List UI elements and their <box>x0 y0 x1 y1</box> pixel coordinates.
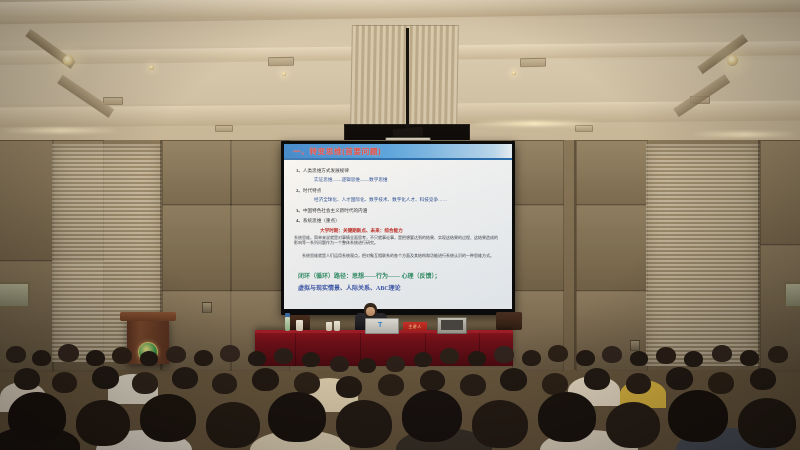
ceiling <box>0 0 800 142</box>
audience-head <box>112 347 132 364</box>
cove-light <box>0 128 120 133</box>
audience-head <box>440 348 459 364</box>
ceiling-vent <box>268 57 294 66</box>
presenter-face <box>366 307 375 316</box>
audience-head <box>386 356 405 372</box>
projection-screen: 一、转变思维(首要问题) 1、人类思维方式发展规律 实证思维——逻辑思维——数学… <box>284 144 512 309</box>
ceiling-vent <box>215 125 233 132</box>
audience-head <box>140 351 158 366</box>
audience-head <box>656 347 676 364</box>
audience-head <box>378 374 404 396</box>
audience-head <box>274 348 293 364</box>
ceiling-grille <box>350 25 459 127</box>
audience-head <box>472 400 528 448</box>
spotlight <box>727 55 738 66</box>
slide-line-5-text: 中国特色社会主义新时代的内涵 <box>303 208 367 213</box>
slide-highlight-line: 大学时期：关键期新点、未来：综合能力 <box>320 228 403 233</box>
slide-line-3: 2、时代特点 <box>296 188 321 193</box>
presenter-head <box>364 303 377 317</box>
audience-head <box>494 346 514 363</box>
audience-head <box>576 350 595 366</box>
lecture-hall-photo: 一、转变思维(首要问题) 1、人类思维方式发展规律 实证思维——逻辑思维——数学… <box>0 0 800 450</box>
audience-head <box>212 373 237 394</box>
presentation-slide: 一、转变思维(首要问题) 1、人类思维方式发展规律 实证思维——逻辑思维——数学… <box>284 144 512 309</box>
stage-chair <box>496 312 522 330</box>
slide-title-bar: 一、转变思维(首要问题) <box>284 144 512 158</box>
slide-line-5-number: 3、 <box>296 208 303 213</box>
ceiling-vent <box>575 125 593 132</box>
slide-bottom-line-1: 闭环（循环）路径：思想——行为—— 心理（反馈）； <box>298 275 441 280</box>
slide-bottom-line-2: 虚拟与现实情景、人际关系、ABC理论 <box>298 287 401 292</box>
audience-head <box>220 345 240 362</box>
audience-head <box>684 351 703 367</box>
audience-head <box>8 392 66 442</box>
audience-head <box>708 372 734 394</box>
wall-window <box>0 282 30 308</box>
audience-head <box>602 346 622 363</box>
wall-panel <box>512 140 564 206</box>
audience-head <box>140 394 196 442</box>
slide-line-3-text: 时代特点 <box>303 188 321 193</box>
audience-head <box>630 351 648 366</box>
slide-line-6: 4、系统思维（重点） <box>296 218 340 223</box>
audience-head <box>76 400 130 446</box>
slide-paragraph-2: 系统思维就是人们运用系统观点，把对象互相联系的各个方面及其结构和功能进行系统认识… <box>294 254 500 259</box>
audience-head <box>460 374 486 396</box>
audience-head <box>548 345 568 362</box>
audience-head <box>666 367 693 390</box>
audience-head <box>302 352 320 367</box>
wall-panel <box>576 140 648 206</box>
cove-light <box>690 132 800 137</box>
monitor-screen <box>441 320 463 330</box>
projection-screen-frame: 一、转变思维(首要问题) 1、人类思维方式发展规律 实证思维——逻辑思维——数学… <box>281 141 515 315</box>
audience-head <box>6 346 26 363</box>
audience-head <box>194 350 213 366</box>
slide-line-2: 实证思维——逻辑思维——数学思维 <box>314 177 388 182</box>
ceiling-vent <box>520 58 546 67</box>
audience-head <box>750 368 776 390</box>
slide-line-5: 3、中国特色社会主义新时代的内涵 <box>296 208 367 213</box>
wall-panel <box>162 204 232 292</box>
audience-head <box>738 398 796 448</box>
slide-line-1: 1、人类思维方式发展规律 <box>296 168 349 173</box>
slide-paragraph-1: 系统思维，简单来说就是对事情全面思考，不只就事论事，是把想要达到的结果、实现这结… <box>294 236 500 245</box>
audience-head <box>248 351 266 366</box>
audience-head <box>668 390 728 442</box>
slide-line-3-number: 2、 <box>296 188 303 193</box>
audience-head <box>606 402 660 448</box>
wall-panel <box>576 204 648 292</box>
downlight <box>282 72 286 76</box>
audience-head <box>402 390 462 442</box>
audience-head <box>522 350 541 366</box>
audience <box>0 330 800 450</box>
audience-head <box>32 350 51 366</box>
audience-head <box>468 351 486 366</box>
audience-head <box>740 350 759 366</box>
podium-top <box>120 312 176 321</box>
audience-head <box>294 372 320 394</box>
downlight <box>512 71 516 75</box>
audience-head <box>268 392 326 442</box>
audience-head <box>92 366 119 389</box>
audience-head <box>336 376 362 398</box>
audience-head <box>414 352 432 367</box>
audience-head <box>330 356 349 372</box>
audience-head <box>538 392 596 442</box>
audience-head <box>58 344 79 362</box>
laptop-logo: T <box>378 322 382 329</box>
wall-window <box>784 282 800 308</box>
audience-head <box>52 372 77 393</box>
audience-head <box>712 345 732 362</box>
wall-panel <box>760 140 800 246</box>
slide-title: 一、转变思维(首要问题) <box>284 146 381 157</box>
audience-head <box>14 368 40 390</box>
audience-head <box>166 346 186 363</box>
audience-head <box>206 402 260 448</box>
audience-head <box>626 373 651 394</box>
water-bottle <box>285 317 290 331</box>
audience-head <box>172 367 198 389</box>
downlight <box>149 65 154 70</box>
wall-panel <box>0 140 54 262</box>
bottle-cap <box>285 313 290 317</box>
audience-head <box>358 358 376 373</box>
audience-head <box>768 346 788 363</box>
audience-head <box>252 368 279 391</box>
audience-head <box>132 372 158 394</box>
spotlight <box>63 55 74 66</box>
slide-line-6-text: 系统思维（重点） <box>303 218 340 223</box>
wall-panel <box>162 140 232 206</box>
audience-head <box>500 368 527 391</box>
slide-line-1-number: 1、 <box>296 168 303 173</box>
audience-head <box>336 400 392 448</box>
slide-line-1-text: 人类思维方式发展规律 <box>303 168 349 173</box>
wall-outlet <box>202 302 212 313</box>
slide-line-4: 经济全球化、人才国际化、数字技术、数字化人才、科技竞争…… <box>314 197 447 202</box>
slide-line-6-number: 4、 <box>296 218 303 223</box>
audience-head <box>86 350 105 366</box>
wall-panel <box>512 204 564 292</box>
projector-pole <box>406 28 409 138</box>
audience-head <box>420 370 445 391</box>
audience-head <box>584 368 610 390</box>
cove-light <box>470 121 600 126</box>
